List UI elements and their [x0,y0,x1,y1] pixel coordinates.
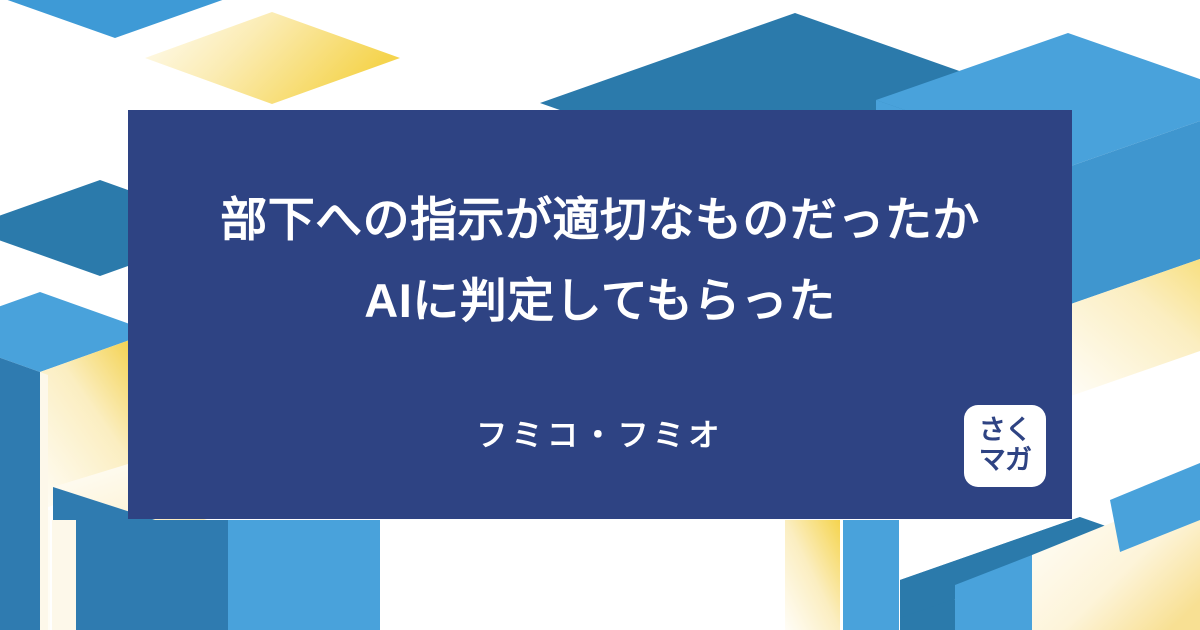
shape-cream-stripe [52,520,76,630]
author-name: フミコ・フミオ [128,410,1072,455]
title-panel: 部下への指示が適切なものだったか AIに判定してもらった フミコ・フミオ さく … [128,110,1072,519]
logo-line-1: さく [979,417,1031,445]
title-block: 部下への指示が適切なものだったか AIに判定してもらった [128,180,1072,342]
shape-lower-left-blue-block [75,520,380,630]
logo-line-2: マガ [979,447,1031,475]
title-line-2: AIに判定してもらった [128,261,1072,342]
title-line-1: 部下への指示が適切なものだったか [128,180,1072,261]
sakumaga-logo: さく マガ [964,405,1046,487]
ogp-card: 部下への指示が適切なものだったか AIに判定してもらった フミコ・フミオ さく … [0,0,1200,630]
shape-bottom-center-yellow-cube [600,520,899,630]
